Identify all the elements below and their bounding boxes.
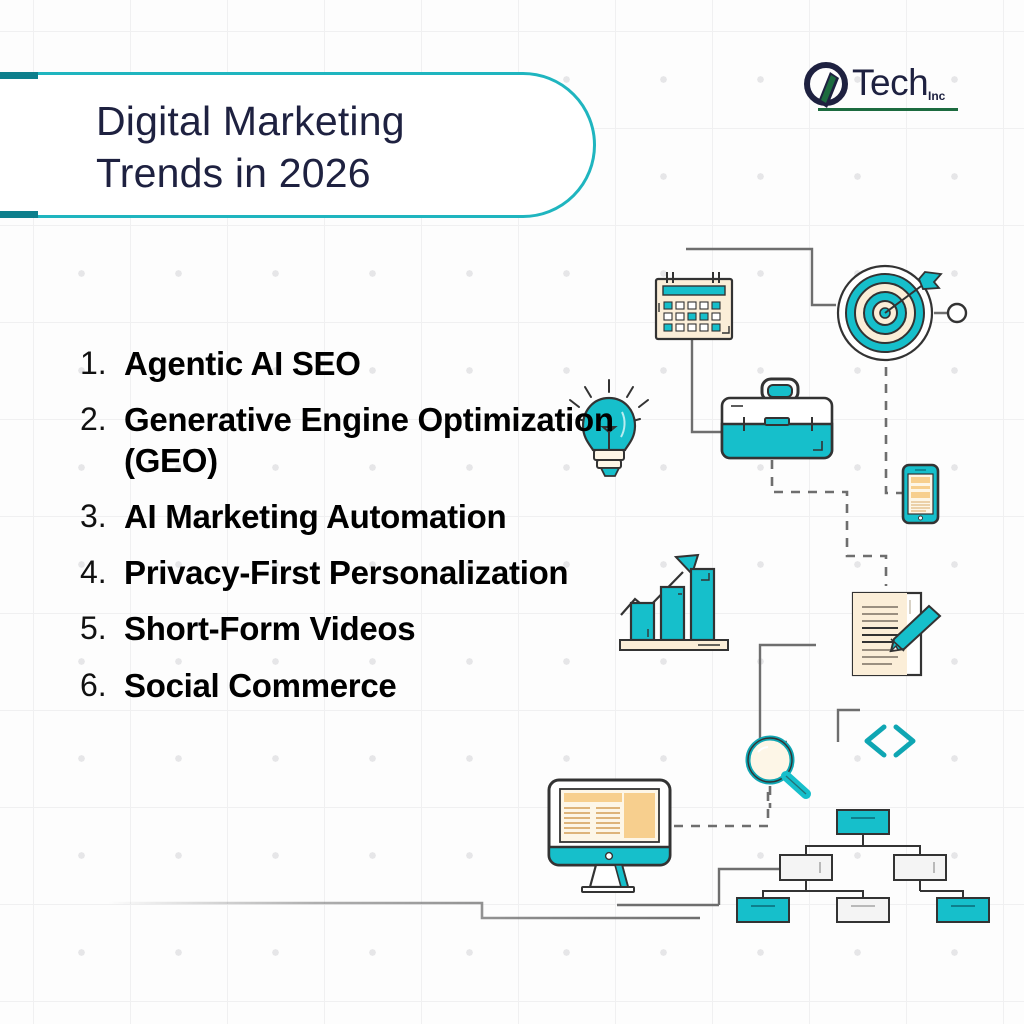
trends-list: 1. Agentic AI SEO 2. Generative Engine O… bbox=[80, 344, 680, 722]
list-item: 4. Privacy-First Personalization bbox=[80, 553, 680, 593]
list-item-label: Agentic AI SEO bbox=[124, 344, 361, 384]
list-item-label: AI Marketing Automation bbox=[124, 497, 506, 537]
code-brackets-icon bbox=[867, 727, 913, 755]
list-item-number: 4. bbox=[80, 553, 124, 592]
calendar-icon bbox=[656, 272, 732, 339]
list-item: 2. Generative Engine Optimization (GEO) bbox=[80, 400, 680, 481]
sitemap-icon bbox=[737, 810, 989, 922]
list-item-number: 6. bbox=[80, 666, 124, 705]
mobile-phone-icon bbox=[903, 465, 938, 523]
list-item-number: 5. bbox=[80, 609, 124, 648]
banner-accent-bottom bbox=[0, 211, 38, 218]
list-item-label: Privacy-First Personalization bbox=[124, 553, 568, 593]
magnifier-icon bbox=[748, 738, 806, 808]
target-icon bbox=[838, 266, 966, 360]
logo-wordmark: Tech bbox=[852, 62, 928, 104]
list-item-number: 1. bbox=[80, 344, 124, 383]
list-item-label: Social Commerce bbox=[124, 666, 396, 706]
list-item: 3. AI Marketing Automation bbox=[80, 497, 680, 537]
qtech-logo[interactable]: Tech Inc bbox=[800, 62, 970, 114]
list-item-label: Short-Form Videos bbox=[124, 609, 415, 649]
list-item: 6. Social Commerce bbox=[80, 666, 680, 706]
banner-accent-top bbox=[0, 72, 38, 79]
briefcase-icon bbox=[722, 379, 832, 458]
list-item-number: 3. bbox=[80, 497, 124, 536]
list-item-number: 2. bbox=[80, 400, 124, 439]
logo-suffix: Inc bbox=[928, 89, 945, 103]
bottom-baseline-connector bbox=[108, 903, 700, 918]
list-item: 1. Agentic AI SEO bbox=[80, 344, 680, 384]
poster-canvas: Digital Marketing Trends in 2026 Tech In… bbox=[0, 0, 1024, 1024]
document-pencil-icon bbox=[853, 593, 940, 675]
page-title: Digital Marketing Trends in 2026 bbox=[96, 96, 566, 199]
monitor-icon bbox=[549, 780, 670, 892]
list-item: 5. Short-Form Videos bbox=[80, 609, 680, 649]
connector-lines-dashed bbox=[674, 350, 906, 826]
logo-underline bbox=[818, 108, 958, 111]
list-item-label: Generative Engine Optimization (GEO) bbox=[124, 400, 680, 481]
